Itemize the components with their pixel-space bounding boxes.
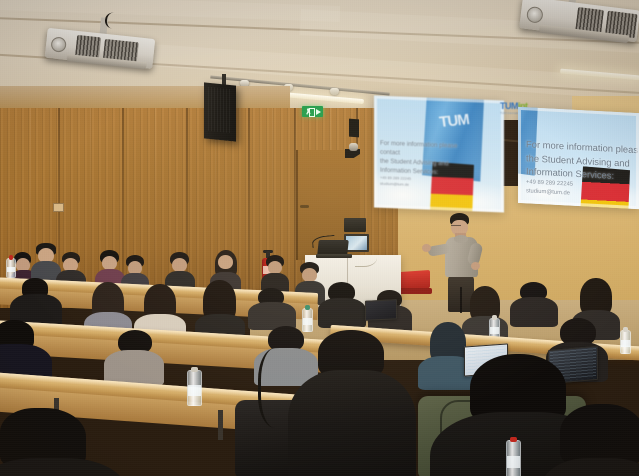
exit-sign xyxy=(302,106,323,117)
bench-leg xyxy=(218,410,223,440)
water-bottle xyxy=(187,370,202,406)
tum-logo-text: TUM xyxy=(500,101,518,111)
wall-socket-plate xyxy=(53,203,64,212)
red-chair xyxy=(398,271,432,301)
right-projection-screen: For more information pleas the Student A… xyxy=(518,107,639,209)
left-projection-screen: TUM For more information please contact … xyxy=(374,96,504,213)
wall-camera-mount xyxy=(345,143,361,159)
audience-laptop[interactable] xyxy=(365,299,397,321)
wall-monitor xyxy=(344,218,366,232)
water-bottle xyxy=(6,258,16,278)
water-bottle xyxy=(302,308,313,332)
ceiling-speaker xyxy=(204,82,236,141)
right-screen-text: For more information pleas the Student A… xyxy=(526,137,639,202)
lecture-hall-photo: TUM For more information please contact … xyxy=(0,0,639,476)
wall-speaker xyxy=(349,119,359,138)
tum-flag-label: TUM xyxy=(436,107,472,136)
water-bottle xyxy=(620,330,631,354)
left-screen-text: For more information please contact the … xyxy=(380,140,476,191)
ceiling-projector xyxy=(42,22,168,94)
door-handle[interactable] xyxy=(300,205,309,208)
water-bottle xyxy=(506,440,521,476)
